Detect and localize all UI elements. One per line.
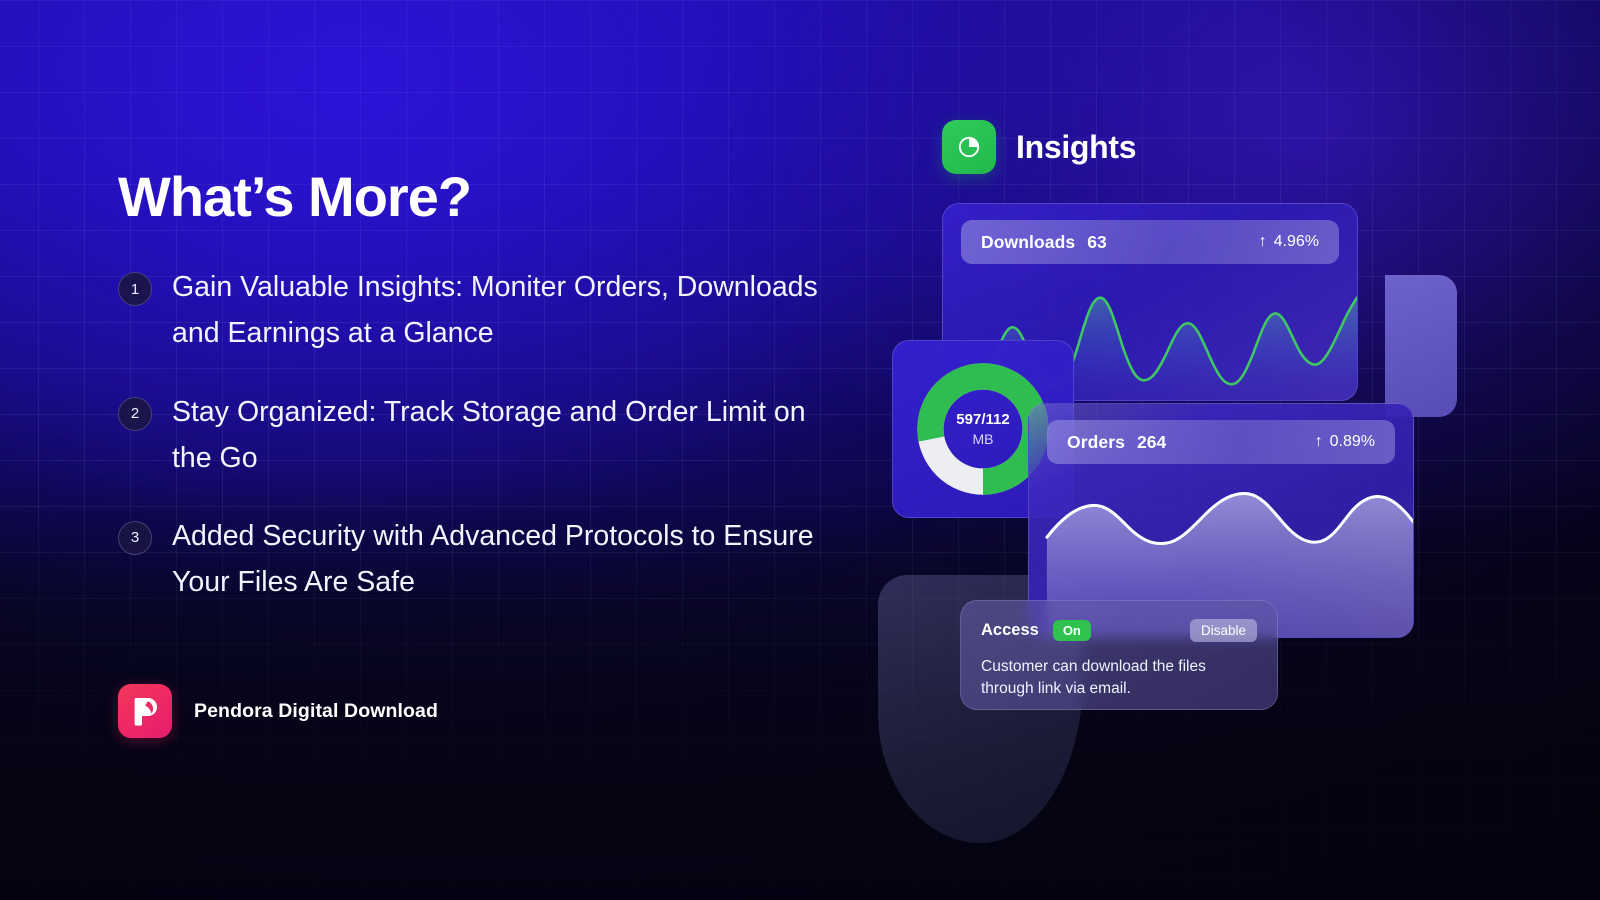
downloads-metric-label: Downloads (981, 232, 1075, 253)
feature-number-badge: 3 (118, 521, 152, 555)
feature-number-badge: 1 (118, 272, 152, 306)
orders-metric-value: 264 (1137, 432, 1166, 453)
access-status-badge: On (1053, 620, 1091, 641)
orders-delta-value: 0.89% (1330, 433, 1375, 451)
feature-text: Added Security with Advanced Protocols t… (172, 513, 832, 605)
decorative-back-card (1385, 275, 1457, 417)
brand-name: Pendora Digital Download (194, 700, 438, 723)
feature-item-3: 3 Added Security with Advanced Protocols… (118, 513, 878, 605)
disable-access-button[interactable]: Disable (1190, 619, 1257, 642)
dashboard-illustration: Insights Downloads 63 ↑ 4.96% (860, 100, 1600, 800)
feature-text: Stay Organized: Track Storage and Order … (172, 389, 832, 481)
pendora-logo-icon (118, 684, 172, 738)
access-description: Customer can download the files through … (961, 642, 1277, 700)
insights-title: Insights (1016, 129, 1136, 166)
pie-chart-icon (942, 120, 996, 174)
downloads-delta: ↑ 4.96% (1259, 233, 1319, 251)
feature-item-1: 1 Gain Valuable Insights: Moniter Orders… (118, 264, 878, 356)
access-card[interactable]: Access On Disable Customer can download … (960, 600, 1278, 710)
feature-list-panel: What’s More? 1 Gain Valuable Insights: M… (118, 168, 878, 637)
downloads-metric-value: 63 (1087, 232, 1106, 253)
page-title: What’s More? (118, 168, 878, 226)
feature-item-2: 2 Stay Organized: Track Storage and Orde… (118, 389, 878, 481)
brand-lockup: Pendora Digital Download (118, 684, 438, 738)
access-label: Access (981, 621, 1039, 640)
access-header: Access On Disable (961, 601, 1277, 642)
feature-text: Gain Valuable Insights: Moniter Orders, … (172, 264, 832, 356)
arrow-up-icon: ↑ (1259, 233, 1267, 251)
feature-number-badge: 2 (118, 397, 152, 431)
downloads-delta-value: 4.96% (1274, 233, 1319, 251)
orders-summary-pill: Orders 264 ↑ 0.89% (1047, 420, 1395, 464)
downloads-summary-pill: Downloads 63 ↑ 4.96% (961, 220, 1339, 264)
insights-header: Insights (942, 120, 1136, 174)
orders-metric-label: Orders (1067, 432, 1125, 453)
orders-delta: ↑ 0.89% (1315, 433, 1375, 451)
arrow-up-icon: ↑ (1315, 433, 1323, 451)
